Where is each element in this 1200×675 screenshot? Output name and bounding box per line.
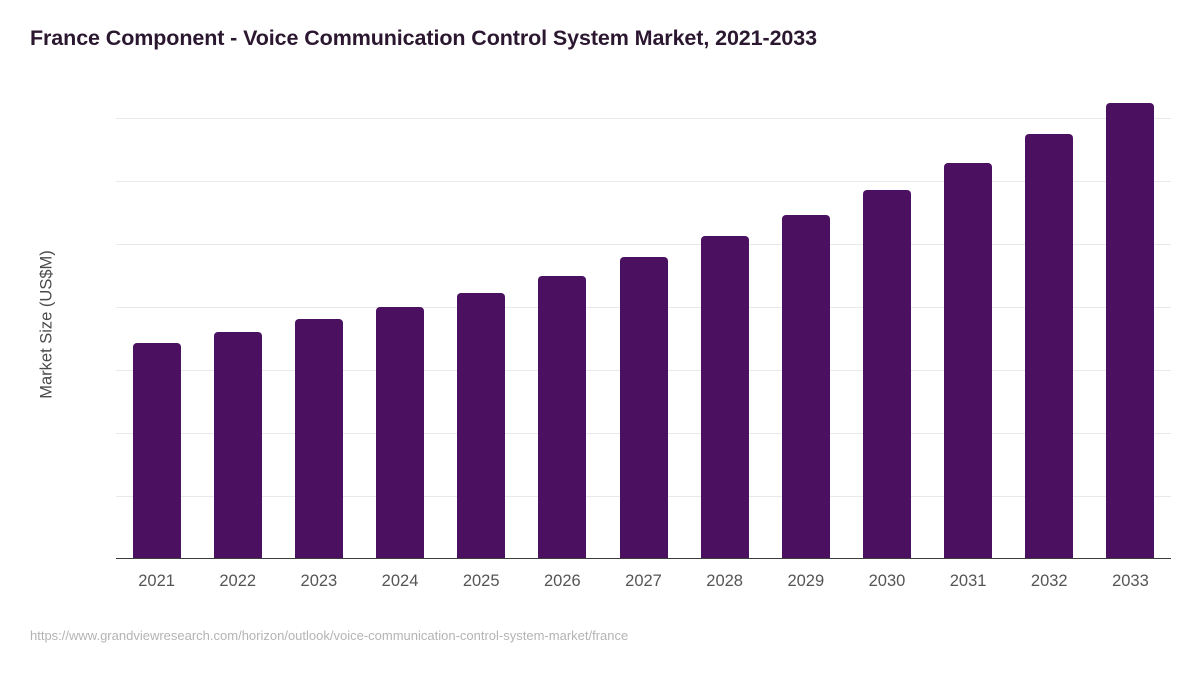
x-axis-tick-label: 2030 (842, 572, 932, 591)
x-axis-tick-label: 2029 (761, 572, 851, 591)
bar-series (116, 100, 1171, 559)
bar[interactable] (701, 236, 749, 558)
bar[interactable] (1025, 134, 1073, 557)
x-axis-tick-label: 2022 (193, 572, 283, 591)
x-axis-tick-label: 2032 (1004, 572, 1094, 591)
bar[interactable] (782, 215, 830, 558)
bar[interactable] (214, 332, 262, 558)
bar[interactable] (944, 163, 992, 557)
x-axis-tick-label: 2021 (112, 572, 202, 591)
x-axis-tick-label: 2033 (1085, 572, 1175, 591)
chart-page: France Component - Voice Communication C… (0, 0, 1200, 675)
x-axis-tick-label: 2028 (680, 572, 770, 591)
x-axis-tick-label: 2024 (355, 572, 445, 591)
plot-area: 050100150200250300350 202120222023202420… (116, 100, 1171, 559)
bar[interactable] (538, 276, 586, 558)
bar[interactable] (863, 190, 911, 558)
y-axis-title: Market Size (US$M) (38, 215, 57, 435)
bar[interactable] (295, 319, 343, 557)
source-url: https://www.grandviewresearch.com/horizo… (30, 628, 628, 643)
x-axis-tick-label: 2026 (517, 572, 607, 591)
x-axis-tick-label: 2031 (923, 572, 1013, 591)
x-axis-line (116, 558, 1171, 560)
bar[interactable] (457, 293, 505, 558)
page-title: France Component - Voice Communication C… (30, 26, 817, 51)
bar[interactable] (1106, 103, 1154, 558)
bar[interactable] (133, 343, 181, 557)
x-axis-tick-label: 2023 (274, 572, 364, 591)
bar[interactable] (620, 257, 668, 558)
bar[interactable] (376, 307, 424, 558)
x-axis-tick-label: 2025 (436, 572, 526, 591)
x-axis-tick-label: 2027 (599, 572, 689, 591)
